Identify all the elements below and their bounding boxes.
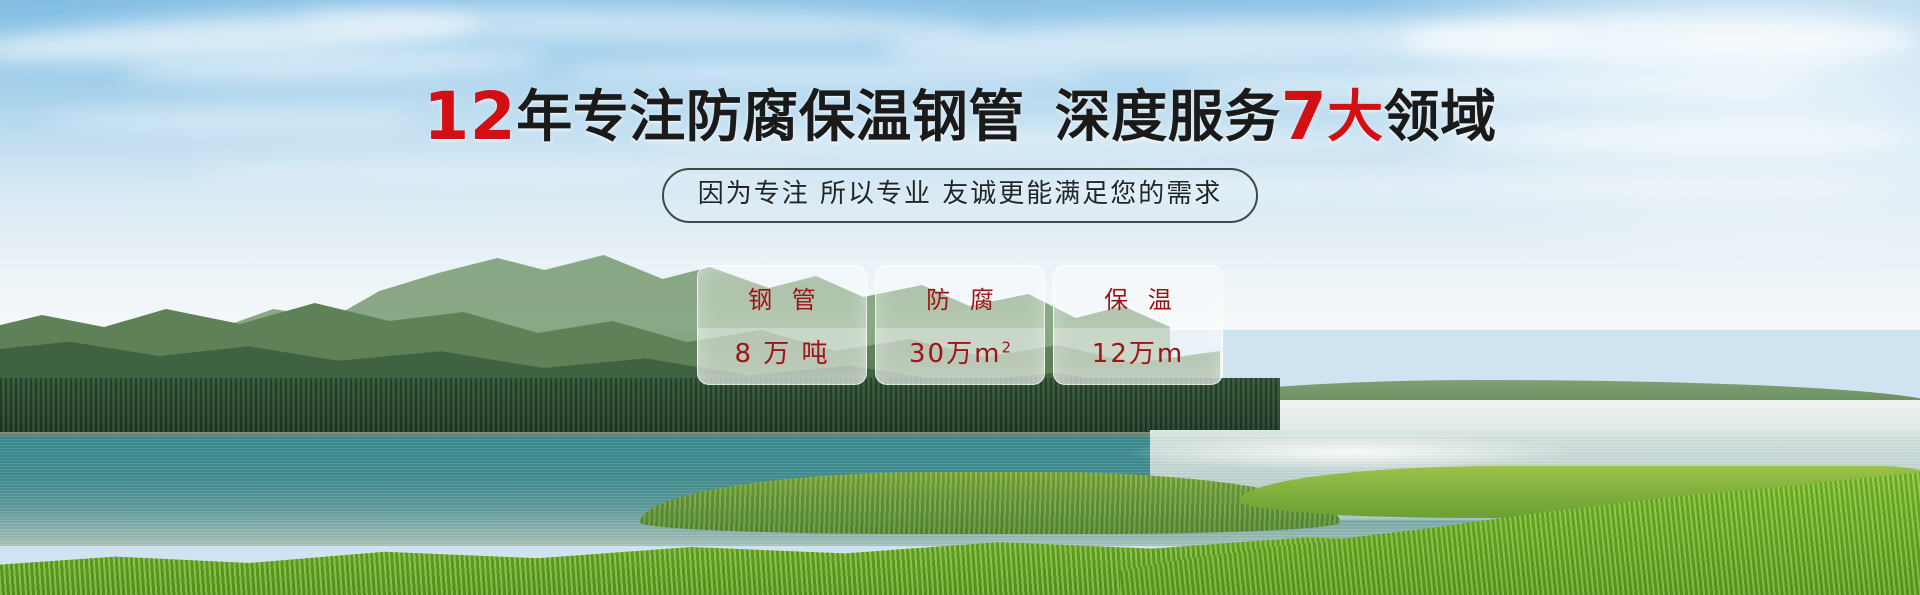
headline-fields-number: 7	[1281, 78, 1327, 155]
stat-card-value: 8 万 吨	[734, 333, 829, 370]
subtitle-container: 因为专注 所以专业 友诚更能满足您的需求	[0, 168, 1920, 223]
stat-card-title: 保 温	[1098, 280, 1178, 315]
stat-card-insulation: 保 温 12万m	[1053, 265, 1223, 385]
stat-card-title: 防 腐	[920, 280, 1000, 315]
headline-text-part1: 年专注防腐保温钢管	[516, 85, 1025, 150]
stat-card-value: 12万m	[1092, 333, 1184, 370]
stat-card-value-superscript: 2	[1001, 338, 1011, 356]
headline-text-part4: 领域	[1384, 85, 1497, 150]
headline-years-number: 12	[423, 78, 516, 155]
headline-text-part2: 深度服务	[1055, 85, 1281, 150]
banner-content: 12年专注防腐保温钢管深度服务7大领域 因为专注 所以专业 友诚更能满足您的需求…	[0, 0, 1920, 595]
stat-card-anticorrosion: 防 腐 30万m2	[875, 265, 1045, 385]
stat-card-steel-pipe: 钢 管 8 万 吨	[697, 265, 867, 385]
headline-text-part3: 大	[1327, 85, 1384, 150]
stat-card-title: 钢 管	[742, 280, 822, 315]
subtitle-pill: 因为专注 所以专业 友诚更能满足您的需求	[662, 168, 1259, 223]
stat-cards: 钢 管 8 万 吨 防 腐 30万m2 保 温 12万m	[0, 265, 1920, 405]
stat-card-value-text: 30万m	[909, 339, 1001, 369]
stat-card-value-text: 12万m	[1092, 339, 1184, 369]
stat-card-value-text: 8 万 吨	[734, 339, 829, 369]
stat-card-value: 30万m2	[909, 333, 1011, 370]
hero-banner: 12年专注防腐保温钢管深度服务7大领域 因为专注 所以专业 友诚更能满足您的需求…	[0, 0, 1920, 595]
page-title: 12年专注防腐保温钢管深度服务7大领域	[0, 84, 1920, 150]
